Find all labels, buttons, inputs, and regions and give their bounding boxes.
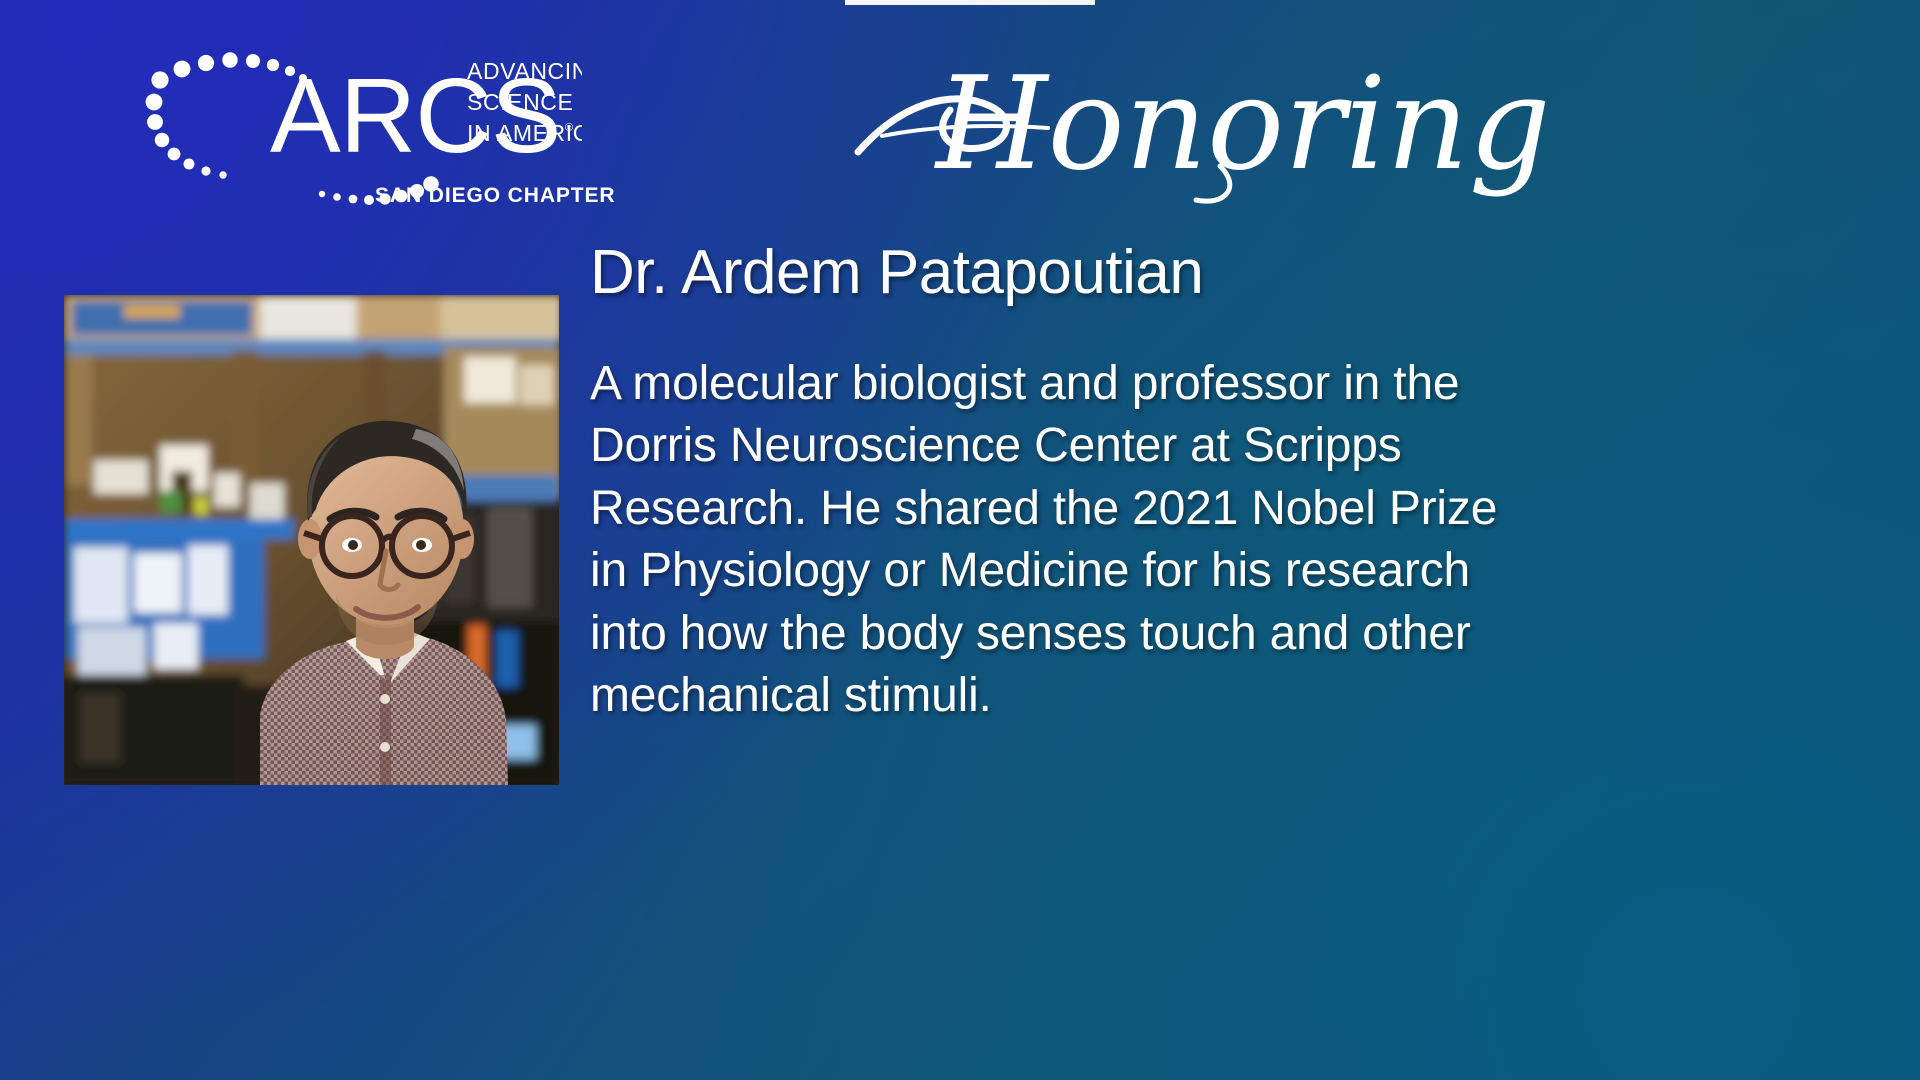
honoree-text-column: Dr. Ardem Patapoutian A molecular biolog… xyxy=(590,240,1520,727)
svg-text:ADVANCING: ADVANCING xyxy=(467,58,582,84)
svg-text:®: ® xyxy=(565,122,574,134)
top-edge-strip xyxy=(845,0,1095,5)
honoring-heading: Honoring xyxy=(840,40,1310,210)
page-title: Dr. Ardem Patapoutian xyxy=(590,240,1520,305)
honoring-script-text: Honoring xyxy=(934,50,1551,199)
honoree-slide: ARCS ADVANCING SCIENCE IN AMERICA ® SAN … xyxy=(0,0,1920,1080)
honoree-bio-text: A molecular biologist and professor in t… xyxy=(590,353,1520,727)
svg-text:SCIENCE: SCIENCE xyxy=(467,89,573,115)
honoree-photo xyxy=(64,295,559,785)
logo-tagline: ADVANCING SCIENCE IN AMERICA ® xyxy=(467,58,582,146)
logo-chapter-label: SAN DIEGO CHAPTER xyxy=(375,184,616,208)
